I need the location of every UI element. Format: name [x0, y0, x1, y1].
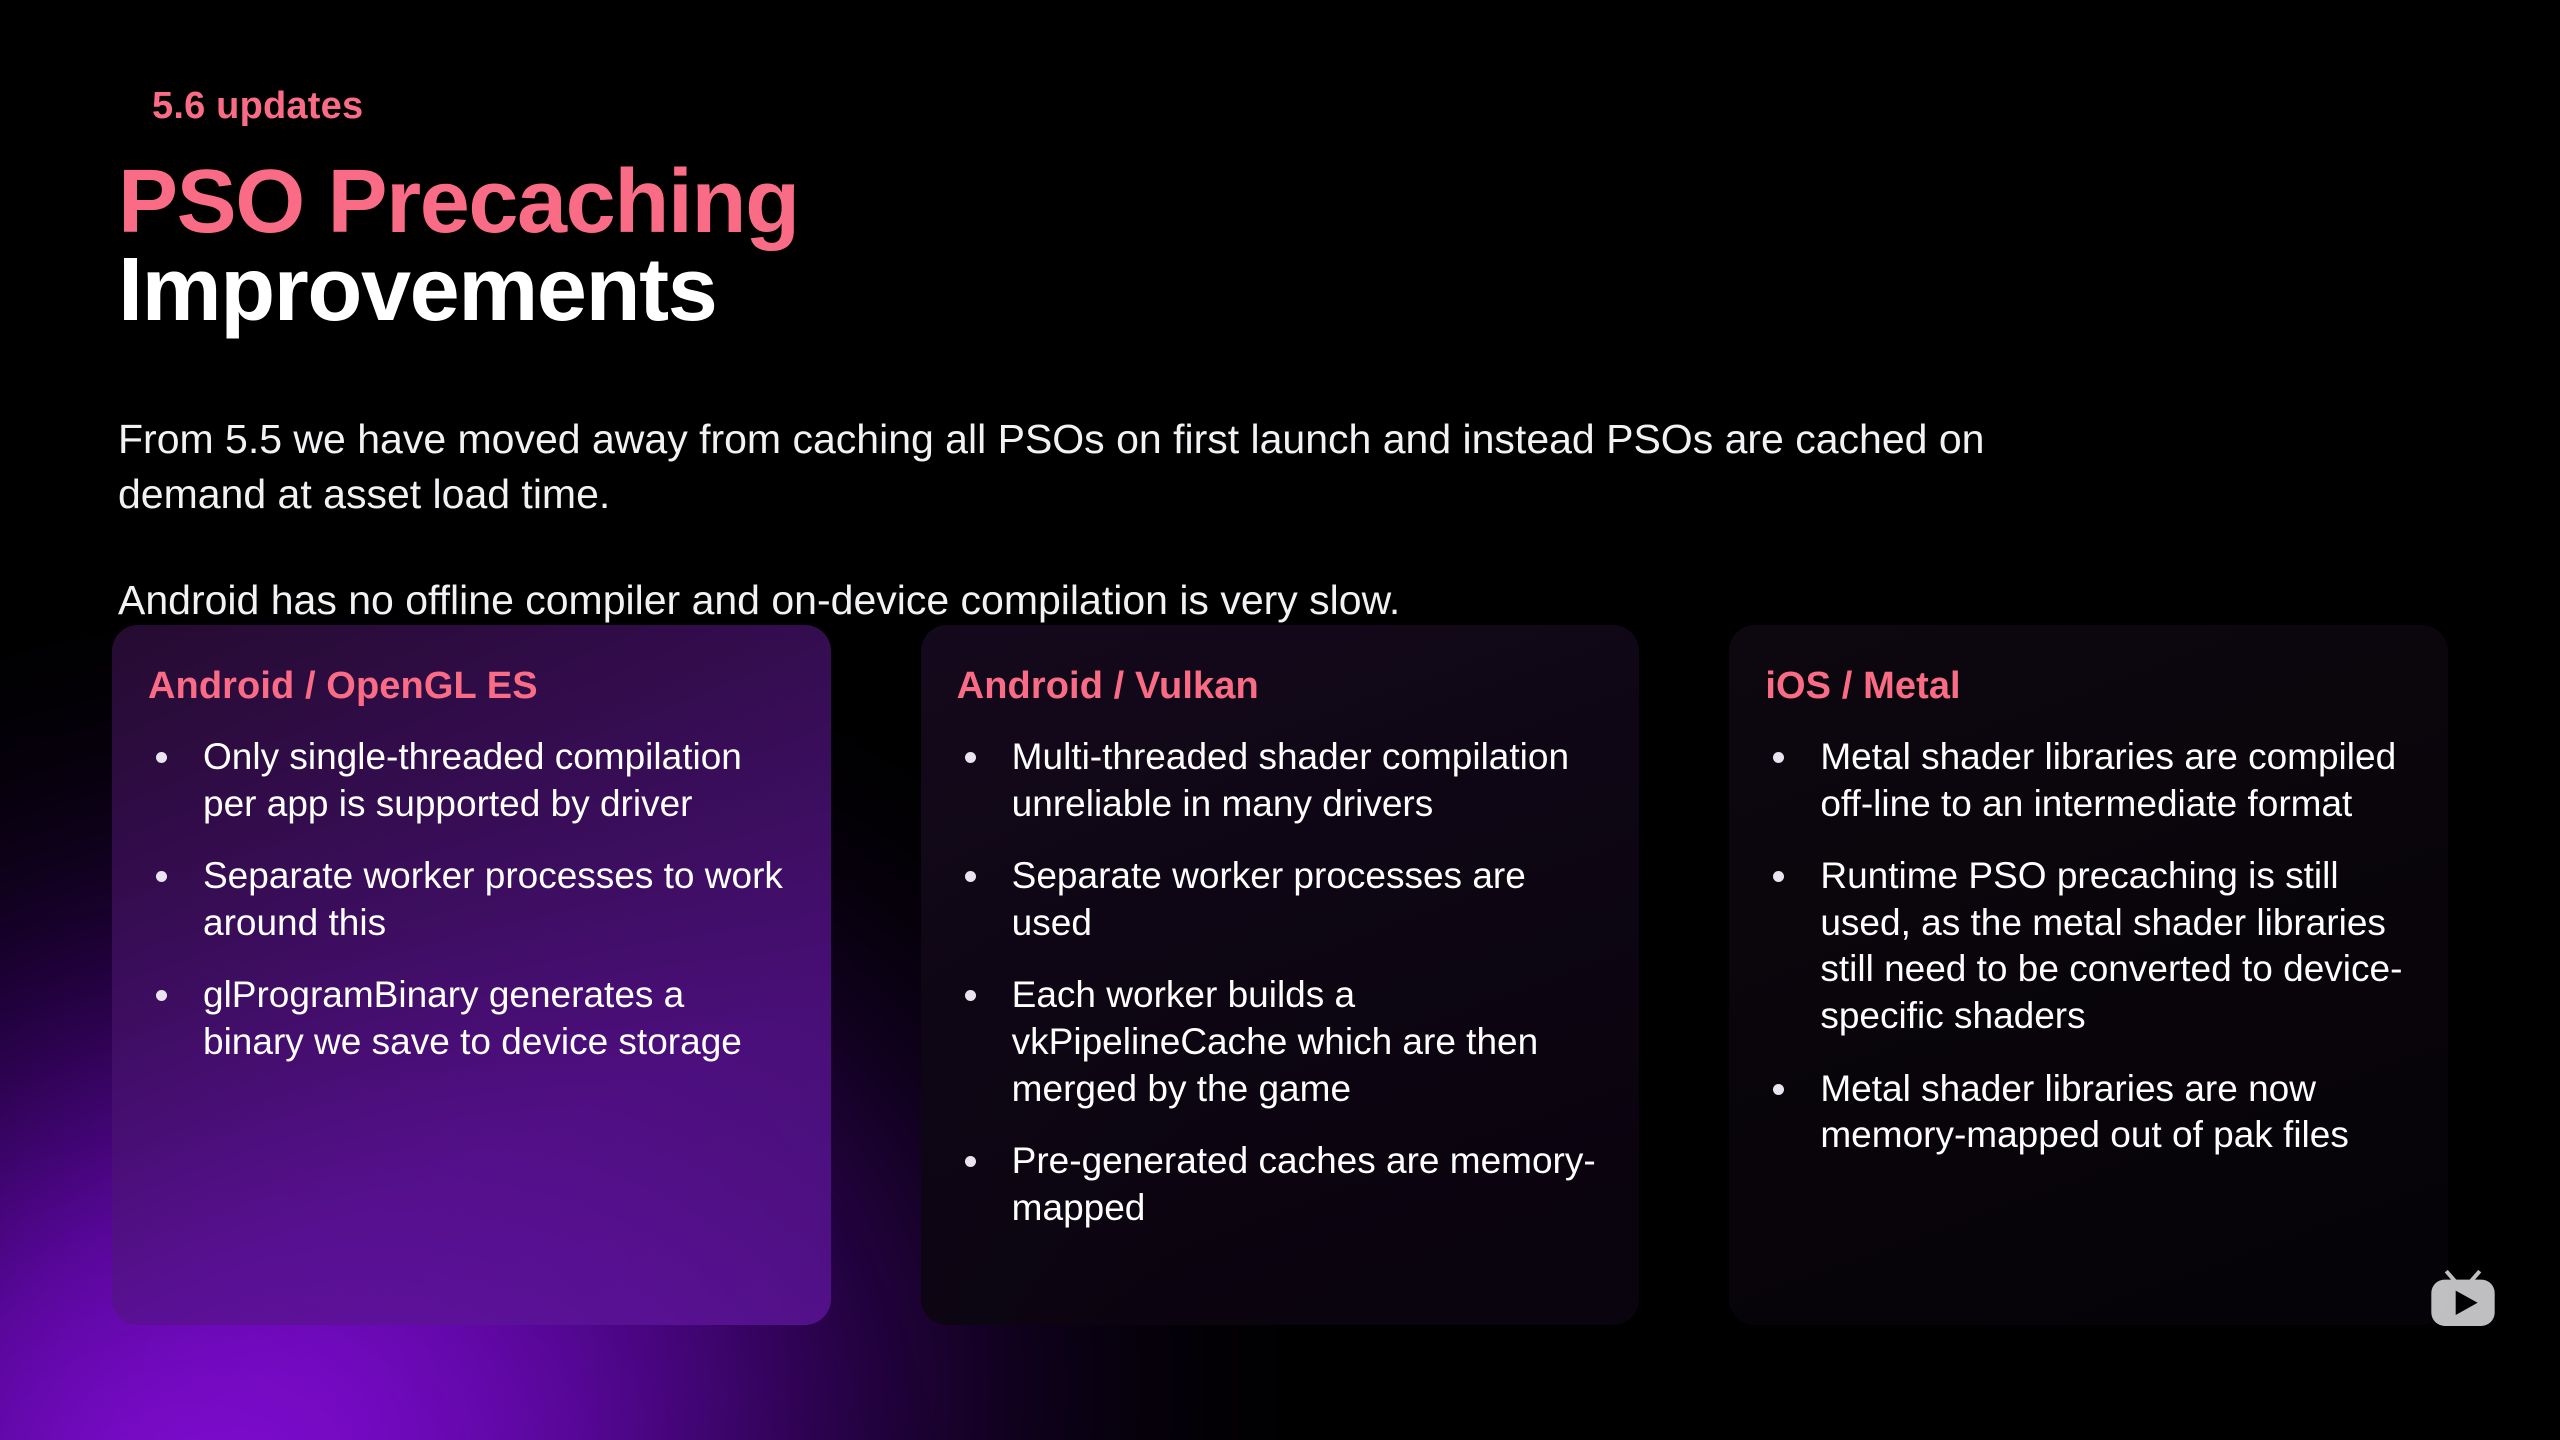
card-android-vulkan: Android / Vulkan Multi-threaded shader c…: [921, 625, 1640, 1325]
bullet-dot-icon: [1773, 752, 1784, 763]
list-item-text: Only single-threaded compilation per app…: [203, 736, 742, 824]
presentation-slide: 5.6 updates PSO Precaching Improvements …: [0, 0, 2560, 1440]
bullet-dot-icon: [965, 871, 976, 882]
bullet-dot-icon: [156, 871, 167, 882]
list-item: Each worker builds a vkPipelineCache whi…: [957, 972, 1604, 1112]
list-item: Metal shader libraries are compiled off-…: [1765, 734, 2412, 827]
bullet-dot-icon: [1773, 1084, 1784, 1095]
bullet-dot-icon: [965, 990, 976, 1001]
paragraph-2: Android has no offline compiler and on-d…: [118, 573, 2018, 628]
list-item: Runtime PSO precaching is still used, as…: [1765, 853, 2412, 1039]
list-item: Separate worker processes are used: [957, 853, 1604, 946]
list-item-text: Separate worker processes to work around…: [203, 855, 783, 943]
list-item-text: Separate worker processes are used: [1012, 855, 1526, 943]
bullet-dot-icon: [156, 752, 167, 763]
bullet-dot-icon: [965, 752, 976, 763]
list-item: Pre-generated caches are memory-mapped: [957, 1138, 1604, 1231]
list-item: Metal shader libraries are now memory-ma…: [1765, 1066, 2412, 1159]
card-bullet-list: Metal shader libraries are compiled off-…: [1765, 734, 2412, 1159]
list-item-text: Metal shader libraries are now memory-ma…: [1820, 1068, 2349, 1156]
card-title: Android / Vulkan: [957, 665, 1604, 708]
slide-title-line1: PSO Precaching: [118, 158, 2318, 246]
list-item-text: Each worker builds a vkPipelineCache whi…: [1012, 974, 1539, 1108]
list-item-text: Runtime PSO precaching is still used, as…: [1820, 855, 2402, 1036]
paragraph-1: From 5.5 we have moved away from caching…: [118, 412, 2018, 523]
card-title: iOS / Metal: [1765, 665, 2412, 708]
tv-play-icon: [2424, 1265, 2502, 1343]
slide-header: 5.6 updates PSO Precaching Improvements: [118, 86, 2318, 334]
list-item-text: Pre-generated caches are memory-mapped: [1012, 1140, 1596, 1228]
list-item-text: glProgramBinary generates a binary we sa…: [203, 974, 742, 1062]
bullet-dot-icon: [156, 990, 167, 1001]
list-item-text: Metal shader libraries are compiled off-…: [1820, 736, 2396, 824]
list-item: Only single-threaded compilation per app…: [148, 734, 795, 827]
platform-cards-row: Android / OpenGL ES Only single-threaded…: [112, 625, 2448, 1325]
card-bullet-list: Multi-threaded shader compilation unreli…: [957, 734, 1604, 1231]
bullet-dot-icon: [965, 1156, 976, 1167]
list-item: Separate worker processes to work around…: [148, 853, 795, 946]
bullet-dot-icon: [1773, 871, 1784, 882]
card-bullet-list: Only single-threaded compilation per app…: [148, 734, 795, 1066]
list-item-text: Multi-threaded shader compilation unreli…: [1012, 736, 1569, 824]
card-android-opengl-es: Android / OpenGL ES Only single-threaded…: [112, 625, 831, 1325]
list-item: Multi-threaded shader compilation unreli…: [957, 734, 1604, 827]
card-title: Android / OpenGL ES: [148, 665, 795, 708]
card-ios-metal: iOS / Metal Metal shader libraries are c…: [1729, 625, 2448, 1325]
slide-intro-paragraphs: From 5.5 we have moved away from caching…: [118, 412, 2018, 628]
slide-eyebrow: 5.6 updates: [152, 86, 2318, 128]
list-item: glProgramBinary generates a binary we sa…: [148, 972, 795, 1065]
slide-title-line2: Improvements: [118, 246, 2318, 334]
